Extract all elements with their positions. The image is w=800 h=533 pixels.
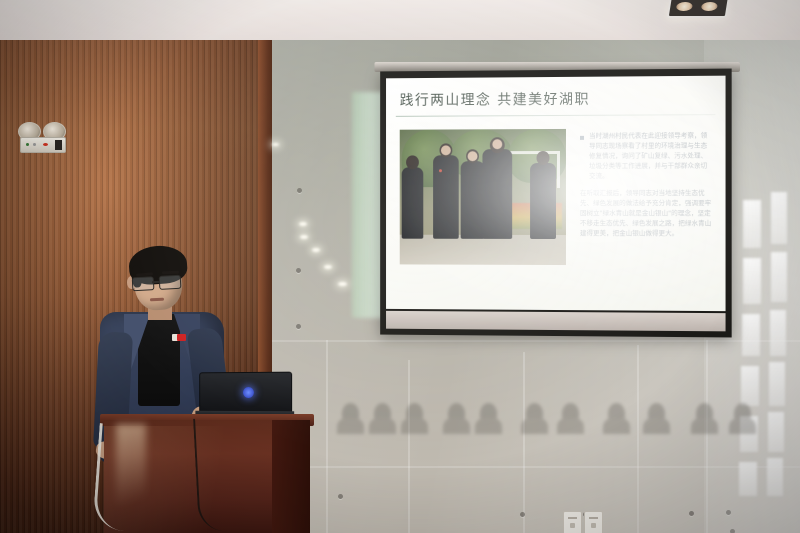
emergency-light-icon [18,122,68,150]
slide-body-paragraph: 当时湖州村民代表在此迎接领导考察，领导同志现场察看了村里的环境治理与生态修复情况… [589,130,713,181]
emergency-light-body [20,137,66,153]
slide-title: 践行两山理念 共建美好湖职 [400,89,590,110]
photo-person [461,161,485,239]
ceiling-bulb-right [701,2,718,11]
laptop-logo-icon [243,387,254,398]
screen-surface: 践行两山理念 共建美好湖职 [386,76,726,311]
wall-fastener [689,511,694,516]
wall-outlet[interactable] [584,511,603,533]
laptop-lid [199,372,292,415]
photo-person [482,149,512,239]
window-reflection [769,362,785,406]
photo-person [433,155,459,239]
window-reflection [771,192,787,244]
light-reflection-spot [299,222,307,226]
eyebrow-right [162,271,179,275]
light-reflection-spot [272,143,279,146]
audience-reflection [330,372,770,434]
window-reflection [742,314,760,356]
lapel-pin [177,334,186,341]
slide-body-paragraph: 在听取汇报后，领导同志对当地坚持生态优先、绿色发展的做法给予充分肯定，强调要牢固… [580,188,713,238]
wall-fastener [520,512,525,517]
bullet-square-icon [580,136,584,140]
screen-bottom-bar [386,311,726,331]
projection-screen: 践行两山理念 共建美好湖职 [380,69,731,338]
slide: 践行两山理念 共建美好湖职 [386,76,726,311]
photo-person [530,163,556,239]
wall-outlet[interactable] [563,511,582,533]
window-reflection [771,252,787,302]
window-reflection [767,458,783,496]
lens-flare-streak [116,424,146,533]
ceiling-bulb-left [676,2,693,11]
window-reflection [770,310,786,356]
slide-title-rule [396,114,716,117]
light-reflection-spot [338,282,347,286]
slide-photo [400,129,566,265]
window-reflection [768,412,784,452]
slide-bullet-item: 当时湖州村民代表在此迎接领导考察，领导同志现场察看了村里的环境治理与生态修复情况… [580,130,713,181]
window-reflection [739,462,757,496]
glasses-icon [132,275,183,290]
window-reflection [743,200,761,248]
slide-body: 当时湖州村民代表在此迎接领导考察，领导同志现场察看了村里的环境治理与生态修复情况… [580,130,713,238]
ceiling-downlight-icon [667,0,730,18]
light-reflection-spot [300,235,308,239]
window-reflection [743,258,761,304]
laptop[interactable] [199,372,290,419]
lecture-hall-photo: 践行两山理念 共建美好湖职 [0,0,800,533]
photo-person [402,167,424,238]
wall-fastener [297,188,302,193]
wall-fastener [338,494,343,499]
wall-panel-seam [326,340,328,533]
